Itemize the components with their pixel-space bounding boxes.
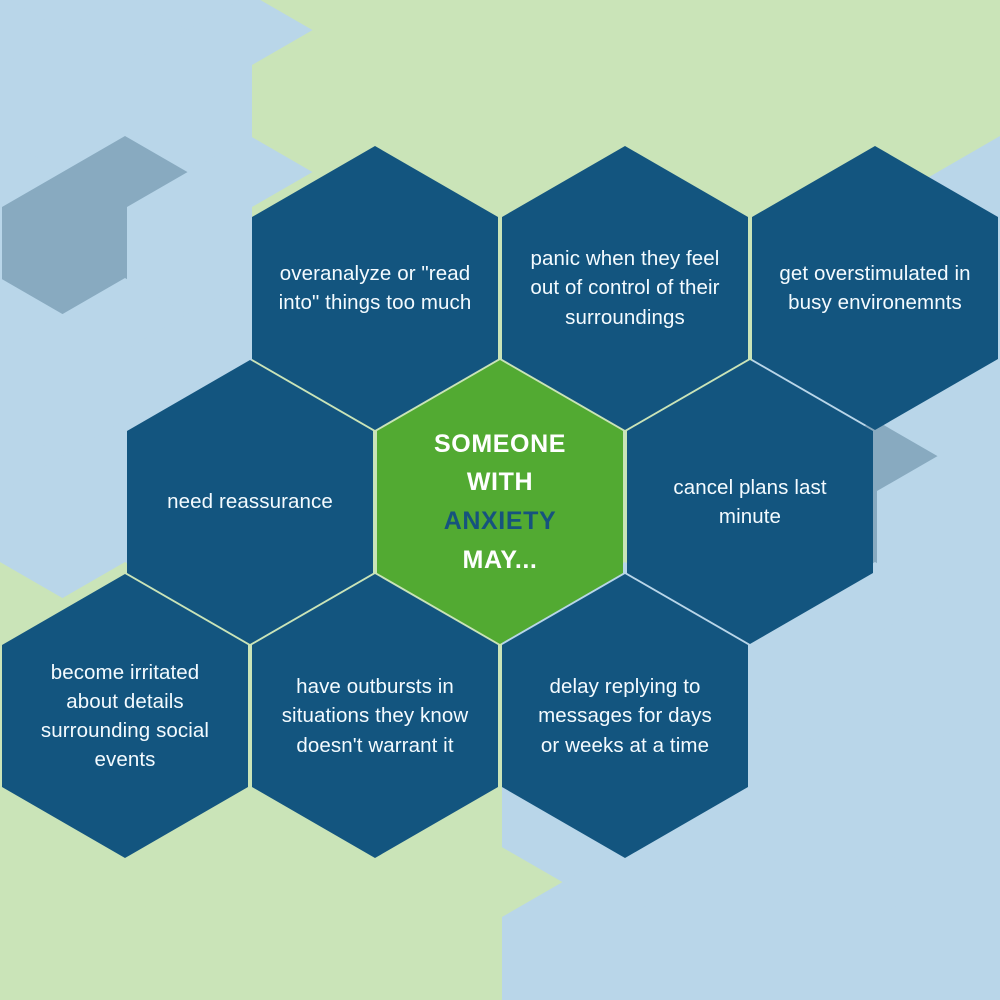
content-hex-label: delay replying to messages for days or w… [528,672,722,759]
title-line-1: SOMEONE [403,425,597,464]
hexagon-grid: overanalyze or "read into" things too mu… [0,0,1000,1000]
content-hex-label: cancel plans last minute [653,473,847,531]
center-hex-label: SOMEONE WITH ANXIETY MAY... [403,425,597,580]
content-hex-label: need reassurance [153,487,347,516]
content-hex-label: have outbursts in situations they know d… [278,672,472,759]
title-line-3-anxiety: ANXIETY [403,502,597,541]
content-hex-label: overanalyze or "read into" things too mu… [278,259,472,317]
content-hex-label: become irritated about details surroundi… [28,658,222,774]
content-hex-label: panic when they feel out of control of t… [528,244,722,331]
content-hex-label: get overstimulated in busy environemnts [778,259,972,317]
title-line-2: WITH [403,463,597,502]
title-line-4: MAY... [403,541,597,580]
anxiety-honeycomb-infographic: overanalyze or "read into" things too mu… [0,0,1000,1000]
